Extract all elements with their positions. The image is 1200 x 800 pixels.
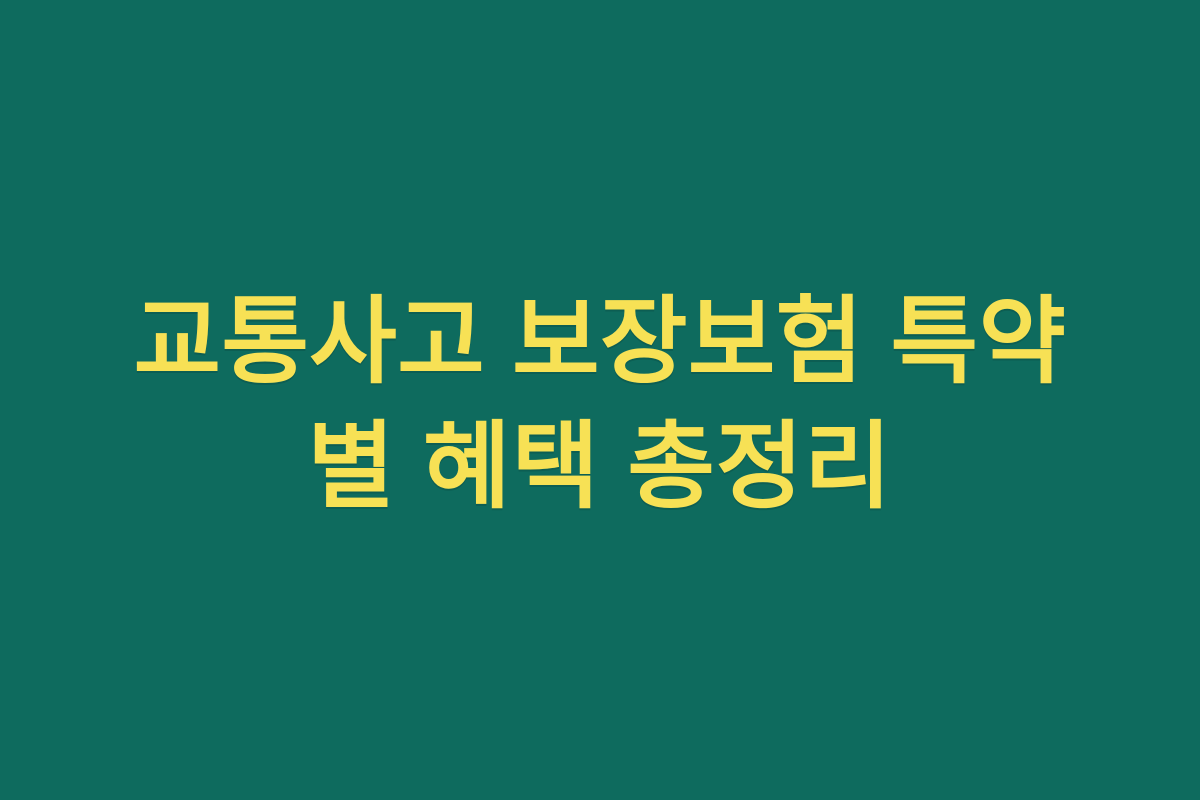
headline-block: 교통사고 보장보험 특약 별 혜택 총정리 <box>70 280 1130 531</box>
title-banner: 교통사고 보장보험 특약 별 혜택 총정리 <box>0 0 1200 800</box>
page-title-line-1: 교통사고 보장보험 특약 <box>80 280 1120 405</box>
page-title: 교통사고 보장보험 특약 별 혜택 총정리 <box>80 280 1120 531</box>
page-title-line-2: 별 혜택 총정리 <box>80 405 1120 530</box>
